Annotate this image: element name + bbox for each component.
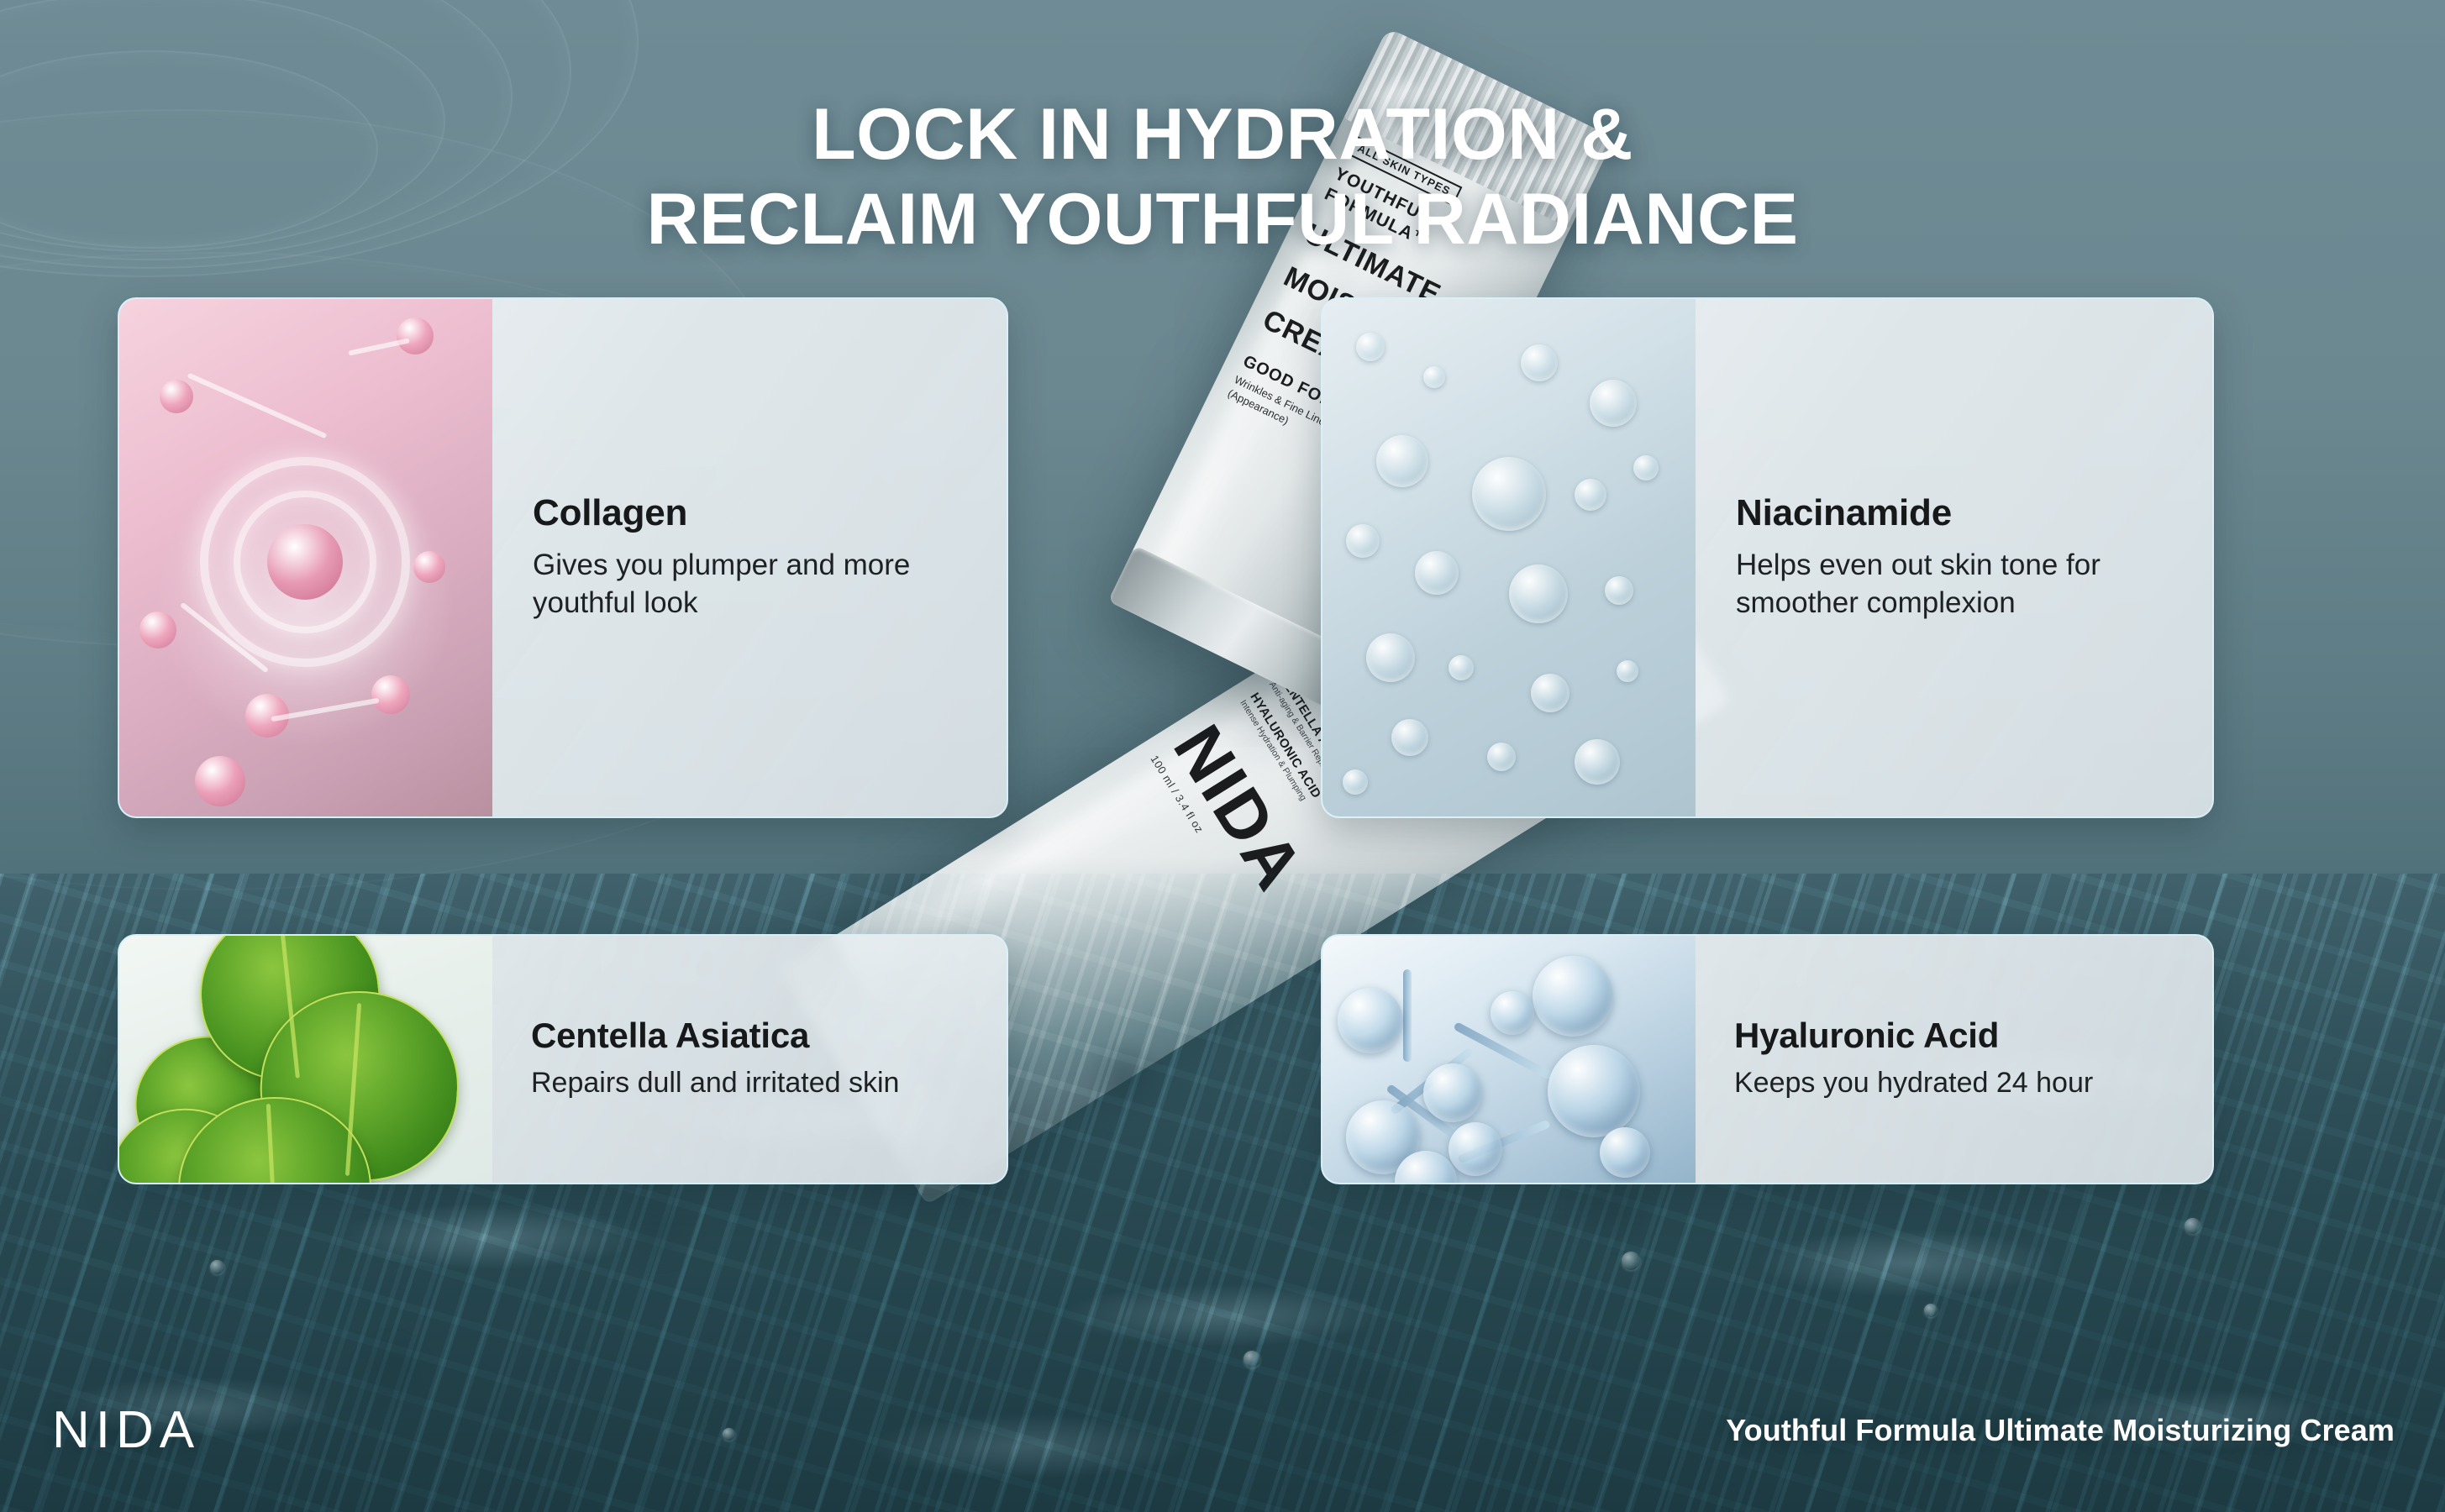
centella-leaves-image <box>119 936 492 1183</box>
card-description: Helps even out skin tone for smoother co… <box>1736 547 2172 622</box>
feature-card-centella[interactable]: Centella Asiatica Repairs dull and irrit… <box>118 934 1008 1184</box>
hyaluronic-molecule-image <box>1322 936 1696 1183</box>
card-description: Keeps you hydrated 24 hour <box>1734 1065 2174 1102</box>
niacinamide-droplets-image <box>1322 299 1696 816</box>
card-title: Niacinamide <box>1736 493 2172 533</box>
feature-card-hyaluronic[interactable]: Hyaluronic Acid Keeps you hydrated 24 ho… <box>1321 934 2214 1184</box>
brand-logo: NIDA <box>52 1400 200 1460</box>
card-title: Hyaluronic Acid <box>1734 1016 2174 1055</box>
collagen-card-body: Collagen Gives you plumper and more yout… <box>492 299 1007 816</box>
niacinamide-card-body: Niacinamide Helps even out skin tone for… <box>1696 299 2212 816</box>
feature-card-grid: Collagen Gives you plumper and more yout… <box>0 0 2445 1512</box>
product-tagline: Youthful Formula Ultimate Moisturizing C… <box>1726 1413 2395 1448</box>
centella-card-body: Centella Asiatica Repairs dull and irrit… <box>492 936 1007 1183</box>
feature-card-collagen[interactable]: Collagen Gives you plumper and more yout… <box>118 297 1008 818</box>
feature-card-niacinamide[interactable]: Niacinamide Helps even out skin tone for… <box>1321 297 2214 818</box>
card-description: Repairs dull and irritated skin <box>531 1065 968 1102</box>
card-title: Centella Asiatica <box>531 1016 968 1055</box>
ad-canvas: GOOD FOR Wrinkles & Fine Lines (Appearan… <box>0 0 2445 1512</box>
card-description: Gives you plumper and more youthful look <box>533 547 966 622</box>
collagen-molecule-image <box>119 299 492 816</box>
card-title: Collagen <box>533 493 966 533</box>
hyaluronic-card-body: Hyaluronic Acid Keeps you hydrated 24 ho… <box>1696 936 2212 1183</box>
